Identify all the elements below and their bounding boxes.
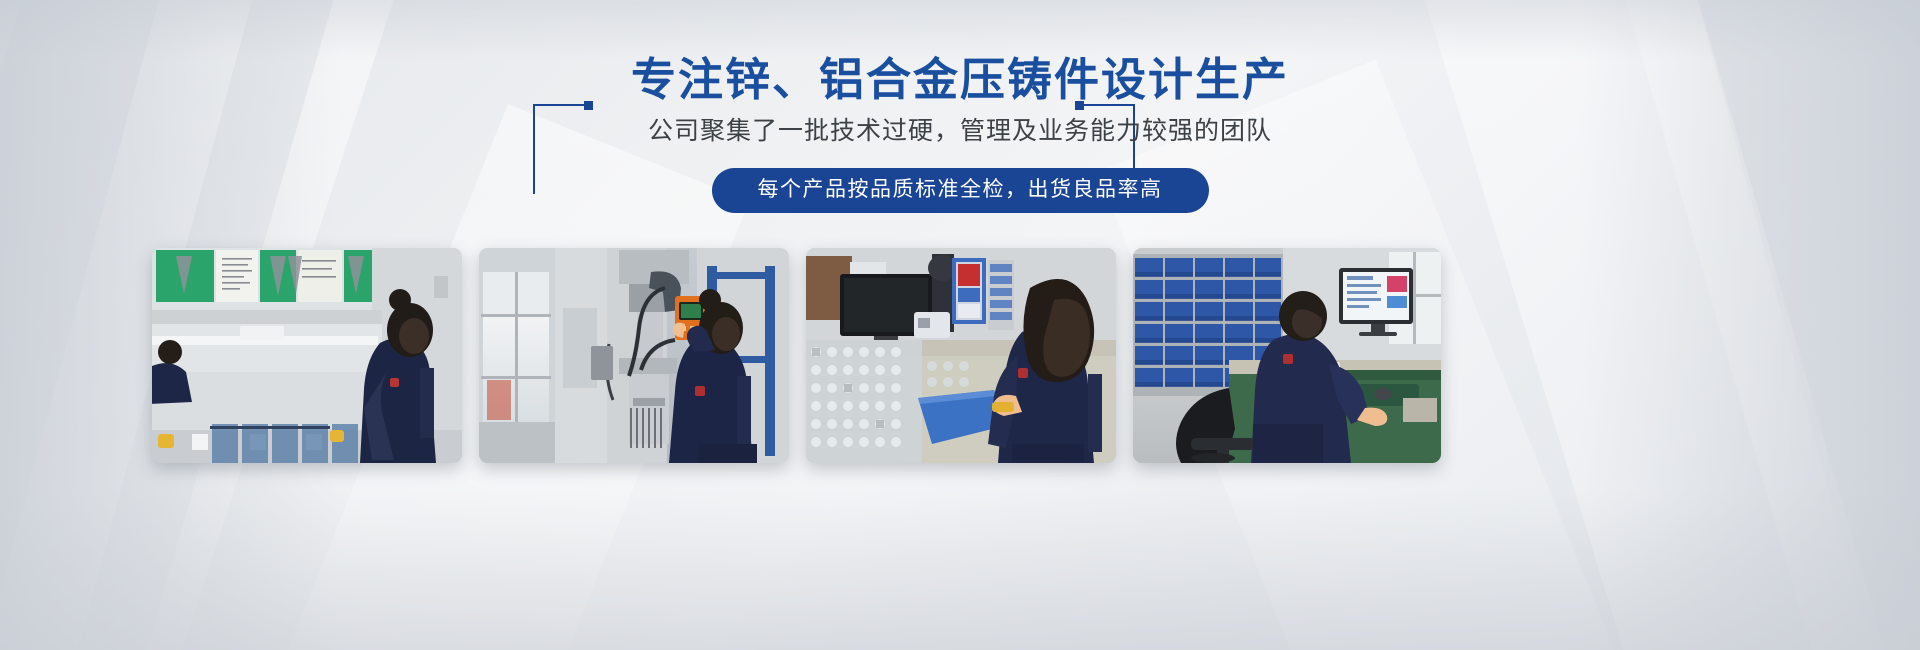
photo-2-image (479, 248, 789, 463)
photo-inspection-station[interactable] (152, 248, 462, 463)
quality-badge: 每个产品按品质标准全检，出货良品率高 (712, 168, 1209, 213)
photo-4-image (1133, 248, 1441, 463)
background-vignette-bottom (0, 490, 1920, 650)
photo-3-image (806, 248, 1116, 463)
banner-title: 专注锌、铝合金压铸件设计生产 (0, 57, 1920, 102)
photo-assembly-desk[interactable] (806, 248, 1116, 463)
square-dot-icon-left (584, 101, 593, 110)
banner-header: 专注锌、铝合金压铸件设计生产 公司聚集了一批技术过硬，管理及业务能力较强的团队 … (0, 0, 1920, 240)
banner-badge-wrapper: 每个产品按品质标准全检，出货良品率高 (0, 168, 1920, 213)
bracket-tick-left (533, 104, 585, 106)
factory-photo-gallery (152, 248, 1768, 463)
photo-office-workstation[interactable] (1133, 248, 1441, 463)
photo-die-casting-machine[interactable] (479, 248, 789, 463)
banner-subtitle: 公司聚集了一批技术过硬，管理及业务能力较强的团队 (0, 115, 1920, 148)
photo-1-image (152, 248, 462, 463)
